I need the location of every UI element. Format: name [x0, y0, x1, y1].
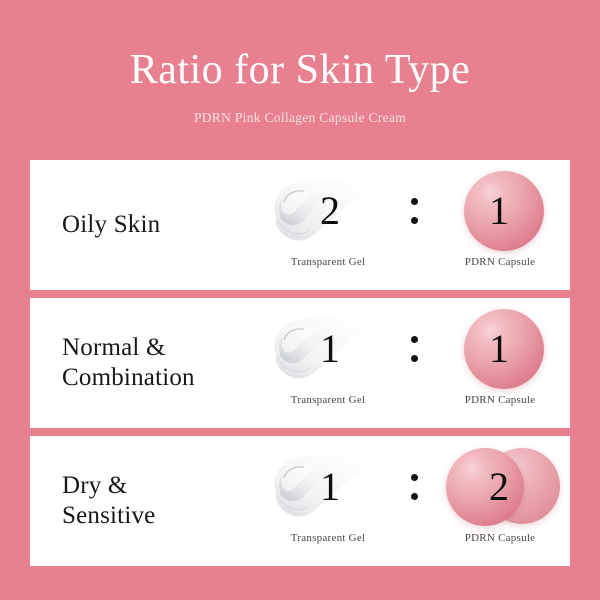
- capsule-amount: 1: [434, 168, 566, 254]
- capsule-visual: 2: [434, 444, 566, 530]
- skin-type-line: Sensitive: [62, 501, 272, 532]
- capsule-visual: 1: [434, 306, 566, 392]
- skin-type-label: Oily Skin: [62, 160, 272, 290]
- capsule-visual: 1: [434, 168, 566, 254]
- ratio-card-dry-sensitive[interactable]: Dry & Sensitive: [30, 436, 570, 566]
- colon-dot-lower: [411, 217, 418, 224]
- page-subtitle: PDRN Pink Collagen Capsule Cream: [0, 110, 600, 126]
- skin-type-label: Dry & Sensitive: [62, 436, 272, 566]
- transparent-gel-group: 1 Transparent Gel: [262, 444, 394, 560]
- page-header: Ratio for Skin Type PDRN Pink Collagen C…: [0, 0, 600, 160]
- capsule-amount: 1: [434, 306, 566, 392]
- ratio-card-list: Oily Skin: [30, 160, 570, 574]
- ratio-zone: 1 Transparent Gel 1 PDRN Capsule: [258, 298, 570, 428]
- ratio-card-normal-combination[interactable]: Normal & Combination: [30, 298, 570, 428]
- gel-visual: 1: [262, 306, 394, 392]
- pdrn-capsule-group: 1 PDRN Capsule: [434, 168, 566, 284]
- colon-dot-lower: [411, 355, 418, 362]
- gel-label: Transparent Gel: [262, 256, 394, 268]
- colon-dot-upper: [411, 198, 418, 205]
- capsule-label: PDRN Capsule: [434, 394, 566, 406]
- transparent-gel-group: 1 Transparent Gel: [262, 306, 394, 422]
- capsule-label: PDRN Capsule: [434, 256, 566, 268]
- gel-amount: 2: [262, 168, 394, 254]
- ratio-card-oily-skin[interactable]: Oily Skin: [30, 160, 570, 290]
- ratio-separator: [404, 306, 424, 392]
- skin-type-line: Oily Skin: [62, 210, 272, 241]
- ratio-separator: [404, 168, 424, 254]
- gel-visual: 2: [262, 168, 394, 254]
- gel-visual: 1: [262, 444, 394, 530]
- gel-amount: 1: [262, 444, 394, 530]
- skin-type-line: Normal &: [62, 333, 272, 364]
- skin-type-line: Combination: [62, 363, 272, 394]
- gel-label: Transparent Gel: [262, 532, 394, 544]
- skin-type-label: Normal & Combination: [62, 298, 272, 428]
- gel-label: Transparent Gel: [262, 394, 394, 406]
- colon-dot-upper: [411, 336, 418, 343]
- page-title: Ratio for Skin Type: [0, 48, 600, 92]
- colon-dot-lower: [411, 493, 418, 500]
- colon-dot-upper: [411, 474, 418, 481]
- pdrn-capsule-group: 1 PDRN Capsule: [434, 306, 566, 422]
- ratio-zone: 2 Transparent Gel 1 PDRN Capsule: [258, 160, 570, 290]
- capsule-label: PDRN Capsule: [434, 532, 566, 544]
- capsule-amount: 2: [434, 444, 566, 530]
- ratio-separator: [404, 444, 424, 530]
- gel-amount: 1: [262, 306, 394, 392]
- transparent-gel-group: 2 Transparent Gel: [262, 168, 394, 284]
- pdrn-capsule-group: 2 PDRN Capsule: [434, 444, 566, 560]
- skin-type-line: Dry &: [62, 471, 272, 502]
- ratio-zone: 1 Transparent Gel 2 PDRN Capsule: [258, 436, 570, 566]
